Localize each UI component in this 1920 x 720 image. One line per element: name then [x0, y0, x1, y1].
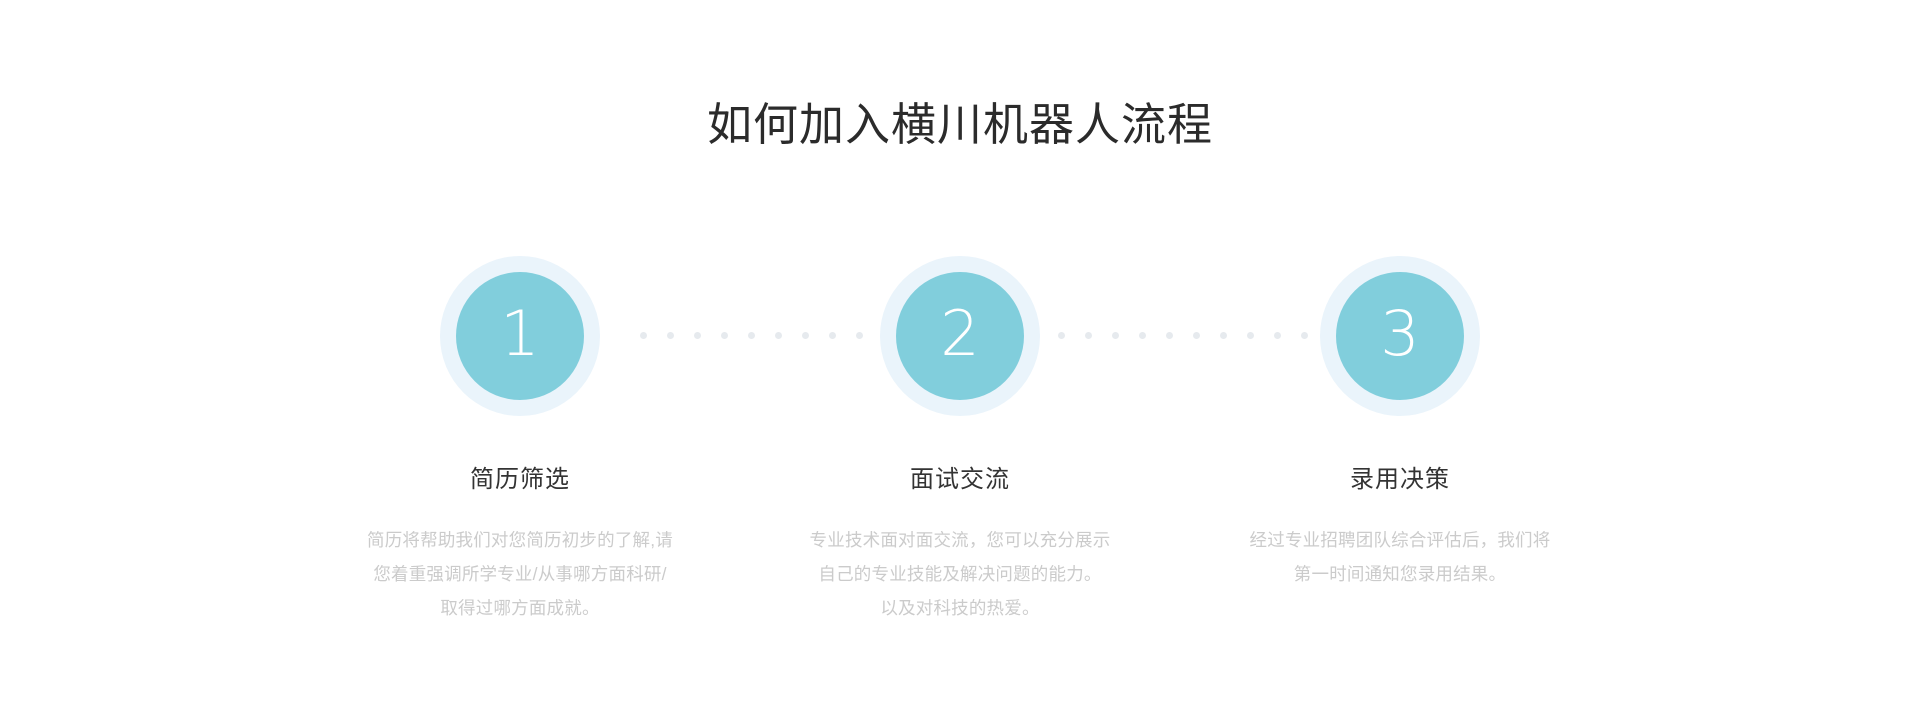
step-badge-3: 3: [1320, 256, 1480, 416]
step-title-3: 录用决策: [1350, 464, 1450, 495]
step-number-1: 1: [500, 303, 539, 365]
step-number-2: 2: [940, 303, 979, 365]
step-badge-inner-3: 3: [1336, 272, 1464, 400]
step-description-line: 经过专业招聘团队综合评估后，我们将: [1210, 523, 1590, 557]
step-description-line: 第一时间通知您录用结果。: [1210, 557, 1590, 591]
step-item-3: 3 录用决策 经过专业招聘团队综合评估后，我们将 第一时间通知您录用结果。: [1200, 256, 1600, 591]
step-description-line: 专业技术面对面交流，您可以充分展示: [770, 523, 1150, 557]
step-badge-inner-1: 1: [456, 272, 584, 400]
step-title-2: 面试交流: [910, 464, 1010, 495]
step-description-2: 专业技术面对面交流，您可以充分展示 自己的专业技能及解决问题的能力。 以及对科技…: [770, 523, 1150, 625]
step-item-2: 2 面试交流 专业技术面对面交流，您可以充分展示 自己的专业技能及解决问题的能力…: [760, 256, 1160, 625]
step-description-3: 经过专业招聘团队综合评估后，我们将 第一时间通知您录用结果。: [1210, 523, 1590, 591]
step-item-1: 1 简历筛选 简历将帮助我们对您简历初步的了解,请 您着重强调所学专业/从事哪方…: [320, 256, 720, 625]
step-description-line: 您着重强调所学专业/从事哪方面科研/: [330, 557, 710, 591]
step-title-1: 简历筛选: [470, 464, 570, 495]
step-description-line: 简历将帮助我们对您简历初步的了解,请: [330, 523, 710, 557]
step-badge-inner-2: 2: [896, 272, 1024, 400]
step-badge-1: 1: [440, 256, 600, 416]
step-description-line: 取得过哪方面成就。: [330, 591, 710, 625]
process-section: 如何加入横川机器人流程 1 简历筛选 简历将帮助我们对您简历初步的了解,请 您着…: [0, 0, 1920, 720]
step-badge-2: 2: [880, 256, 1040, 416]
steps-list: 1 简历筛选 简历将帮助我们对您简历初步的了解,请 您着重强调所学专业/从事哪方…: [320, 256, 1600, 656]
step-description-line: 以及对科技的热爱。: [770, 591, 1150, 625]
step-description-line: 自己的专业技能及解决问题的能力。: [770, 557, 1150, 591]
step-number-3: 3: [1380, 303, 1419, 365]
step-description-1: 简历将帮助我们对您简历初步的了解,请 您着重强调所学专业/从事哪方面科研/ 取得…: [330, 523, 710, 625]
page-title: 如何加入横川机器人流程: [0, 98, 1920, 152]
